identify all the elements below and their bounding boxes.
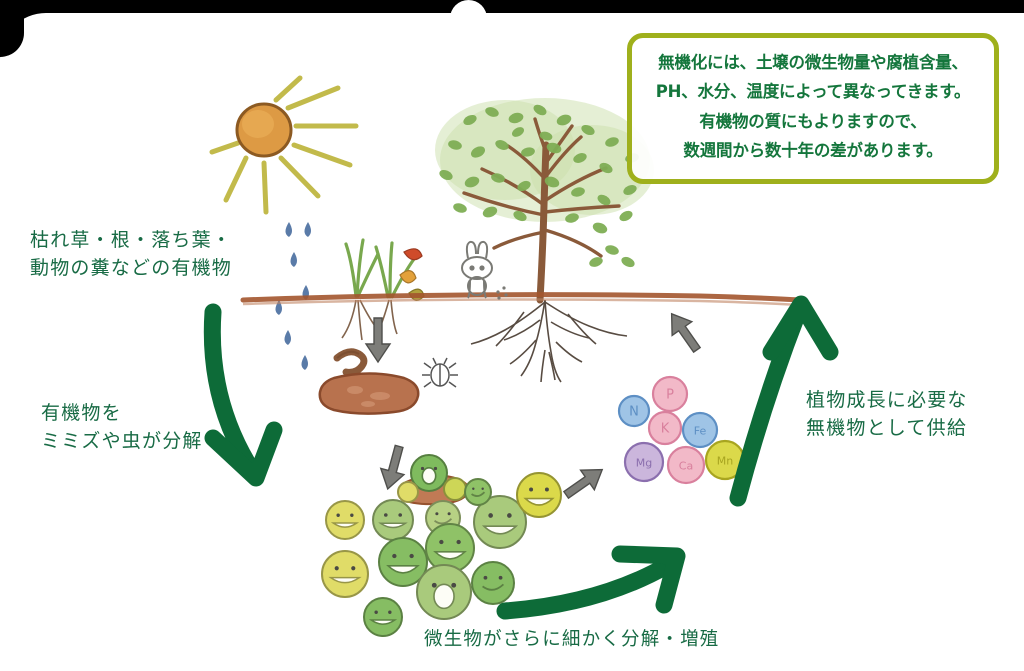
- mineral-label-fe: Fe: [694, 425, 707, 438]
- tree-roots-icon: [471, 300, 627, 382]
- mineral-n: N: [619, 396, 649, 426]
- microbe-cell: [417, 565, 471, 619]
- callout-line-1: 無機化には、土壌の微生物量や腐植含量、: [642, 51, 984, 74]
- mineral-label-mg: Mg: [636, 457, 652, 470]
- earthworm-icon: [337, 352, 364, 373]
- label-organic-matter-line1: 枯れ草・根・落ち葉・: [30, 227, 232, 255]
- callout-line-2: PH、水分、温度によって異なってきます。: [642, 80, 984, 103]
- microbe-cell: [517, 473, 561, 517]
- microbe-cell: [326, 501, 364, 539]
- grass-roots-icon: [342, 300, 397, 340]
- green-arrow-right: [505, 554, 677, 611]
- mineralization-callout: 無機化には、土壌の微生物量や腐植含量、 PH、水分、温度によって異なってきます。…: [627, 33, 999, 184]
- green-arrow-down: [212, 312, 274, 478]
- microbe-cell: [465, 479, 491, 505]
- mineral-nutrient-cluster: PNKFeMgCaMn: [619, 377, 744, 483]
- falling-leaves-icon: [400, 249, 424, 301]
- label-mineral-supply-line1: 植物成長に必要な: [806, 387, 968, 415]
- microbe-cell: [398, 482, 418, 502]
- label-worm-decomposition: 有機物を ミミズや虫が分解: [41, 400, 203, 455]
- mineral-k: K: [649, 412, 681, 444]
- microbe-cell: [444, 478, 466, 500]
- mineral-label-k: K: [661, 422, 670, 437]
- grass-icon: [346, 240, 414, 297]
- microbe-cell: [373, 500, 413, 540]
- callout-line-4: 数週間から数十年の差があります。: [642, 139, 984, 162]
- sun-icon: [212, 78, 356, 212]
- mineral-label-ca: Ca: [679, 460, 693, 473]
- beetle-icon: [422, 358, 458, 387]
- label-mineral-supply-line2: 無機物として供給: [806, 415, 968, 443]
- microbe-cell: [364, 598, 402, 636]
- screenshot-root: PNKFeMgCaMn 無機化には、土壌の微生物量や腐植含量、 PH、水分、温度…: [0, 0, 1024, 671]
- mineral-p: P: [653, 377, 687, 411]
- label-organic-matter-line2: 動物の糞などの有機物: [30, 255, 232, 283]
- label-microbe-decomposition: 微生物がさらに細かく分解・増殖: [424, 627, 720, 654]
- mineral-ca: Ca: [668, 447, 704, 483]
- mineral-fe: Fe: [683, 413, 717, 447]
- tree-icon: [435, 98, 654, 300]
- soil-surface-line: [243, 295, 800, 305]
- mineral-label-n: N: [629, 405, 639, 420]
- label-mineral-supply: 植物成長に必要な 無機物として供給: [806, 387, 968, 442]
- mineral-label-p: P: [666, 388, 674, 403]
- compost-mass-icon: [320, 374, 418, 414]
- label-worm-decomposition-line1: 有機物を: [41, 400, 203, 428]
- label-worm-decomposition-line2: ミミズや虫が分解: [41, 428, 203, 456]
- microbe-cell: [322, 551, 368, 597]
- animal-icon: [462, 242, 508, 300]
- mineral-label-mn: Mn: [717, 455, 733, 468]
- microbe-cell: [472, 562, 514, 604]
- label-microbe-decomposition-line1: 微生物がさらに細かく分解・増殖: [424, 627, 720, 654]
- callout-line-3: 有機物の質にもよりますので、: [642, 110, 984, 133]
- label-organic-matter: 枯れ草・根・落ち葉・ 動物の糞などの有機物: [30, 227, 232, 282]
- mineral-mg: Mg: [625, 443, 663, 481]
